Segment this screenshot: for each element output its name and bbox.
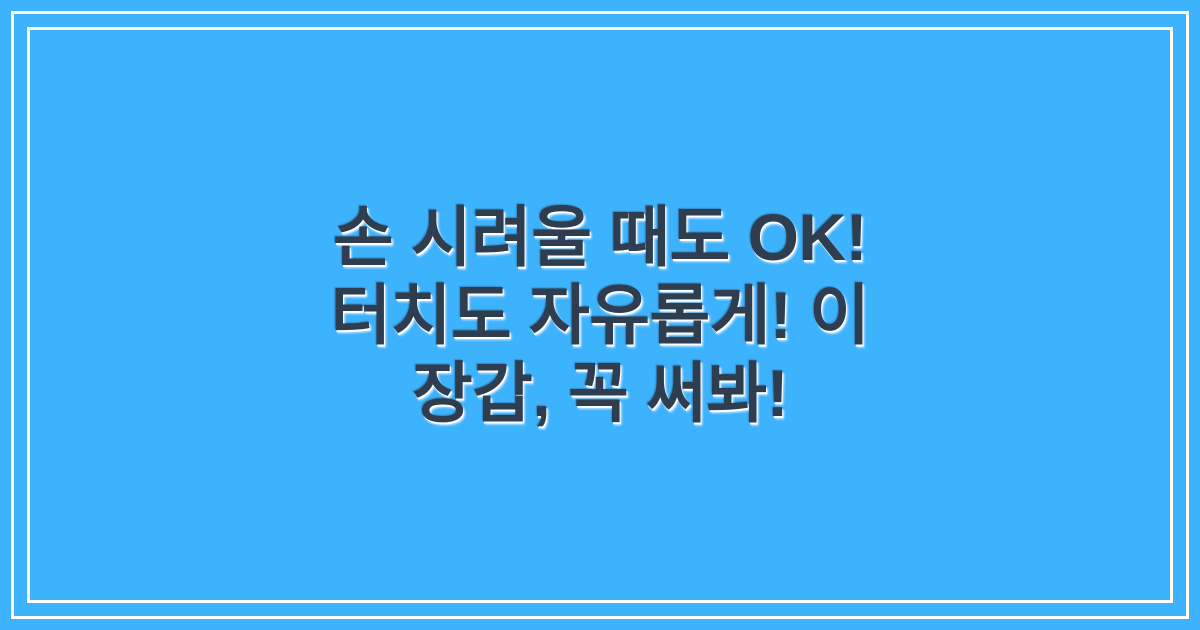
promo-card: 손 시려울 때도 OK! 터치도 자유롭게! 이 장갑, 꼭 써봐! xyxy=(0,0,1200,630)
headline-line-3: 장갑, 꼭 써봐! xyxy=(290,354,910,432)
headline-line-1: 손 시려울 때도 OK! xyxy=(290,198,910,276)
headline-line-2: 터치도 자유롭게! 이 xyxy=(290,276,910,354)
content-area: 손 시려울 때도 OK! 터치도 자유롭게! 이 장갑, 꼭 써봐! xyxy=(0,0,1200,630)
headline-title: 손 시려울 때도 OK! 터치도 자유롭게! 이 장갑, 꼭 써봐! xyxy=(290,198,910,432)
